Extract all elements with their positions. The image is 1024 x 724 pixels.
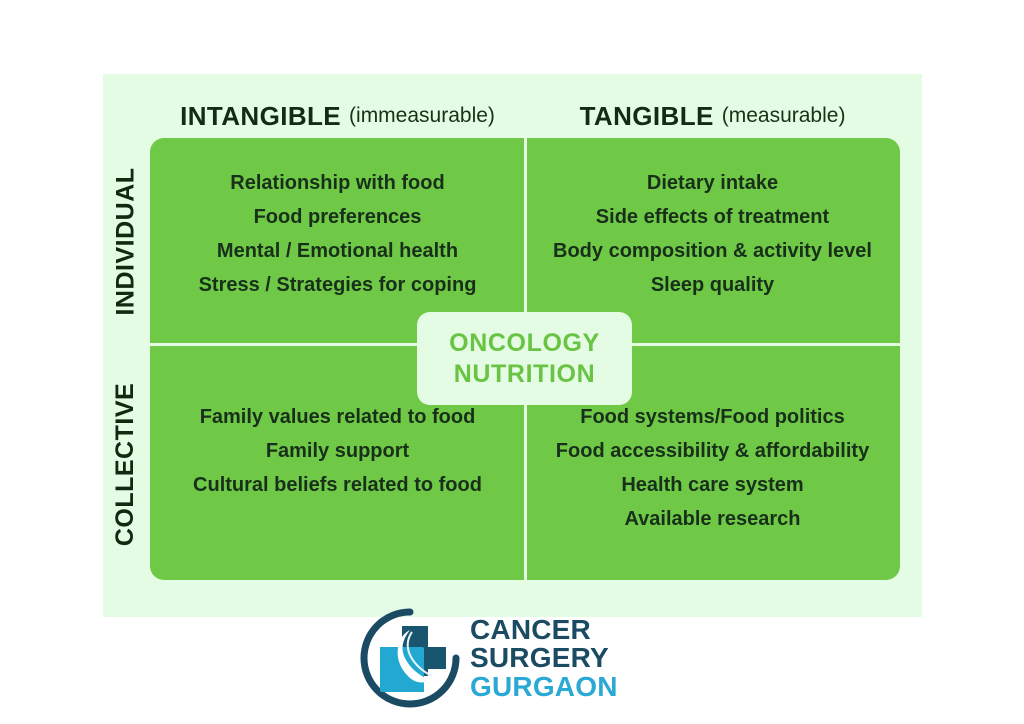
center-badge-line2: NUTRITION: [454, 359, 596, 390]
row-label-individual-text: INDIVIDUAL: [112, 167, 141, 315]
center-badge-line1: ONCOLOGY: [449, 328, 600, 359]
quadrant-item: Body composition & activity level: [553, 234, 872, 268]
quadrant-item: Sleep quality: [651, 268, 774, 302]
column-headers: INTANGIBLE (immeasurable) TANGIBLE (meas…: [150, 96, 900, 136]
quadrant-item: Food preferences: [254, 200, 422, 234]
quadrant-item: Mental / Emotional health: [217, 234, 458, 268]
column-header-intangible-subtitle: (immeasurable): [349, 104, 495, 128]
row-label-individual: INDIVIDUAL: [104, 138, 148, 344]
quadrant-item: Dietary intake: [647, 166, 778, 200]
medical-cross-ribbon-icon: [358, 606, 462, 710]
quadrant-item: Side effects of treatment: [596, 200, 829, 234]
quadrant-item: Available research: [624, 502, 800, 536]
column-header-intangible-title: INTANGIBLE: [180, 101, 341, 132]
quadrant-item: Food systems/Food politics: [580, 400, 844, 434]
column-header-tangible: TANGIBLE (measurable): [525, 96, 900, 136]
row-label-collective: COLLECTIVE: [104, 348, 148, 580]
quadrant-item: Health care system: [621, 468, 803, 502]
quadrant-item: Stress / Strategies for coping: [199, 268, 477, 302]
quadrant-item: Cultural beliefs related to food: [193, 468, 482, 502]
column-header-tangible-subtitle: (measurable): [722, 104, 846, 128]
brand-logo-text: CANCER SURGERY GURGAON: [470, 616, 698, 701]
center-badge: ONCOLOGY NUTRITION: [417, 312, 632, 405]
row-label-collective-text: COLLECTIVE: [112, 382, 141, 545]
column-header-tangible-title: TANGIBLE: [580, 101, 714, 132]
brand-logo-line2: GURGAON: [470, 673, 698, 701]
quadrant-item: Relationship with food: [230, 166, 444, 200]
quadrant-item: Family values related to food: [200, 400, 476, 434]
brand-logo: CANCER SURGERY GURGAON: [358, 606, 698, 710]
column-header-intangible: INTANGIBLE (immeasurable): [150, 96, 525, 136]
brand-logo-line1: CANCER SURGERY: [470, 616, 698, 672]
quadrant-item: Food accessibility & affordability: [556, 434, 869, 468]
quadrant-item: Family support: [266, 434, 409, 468]
